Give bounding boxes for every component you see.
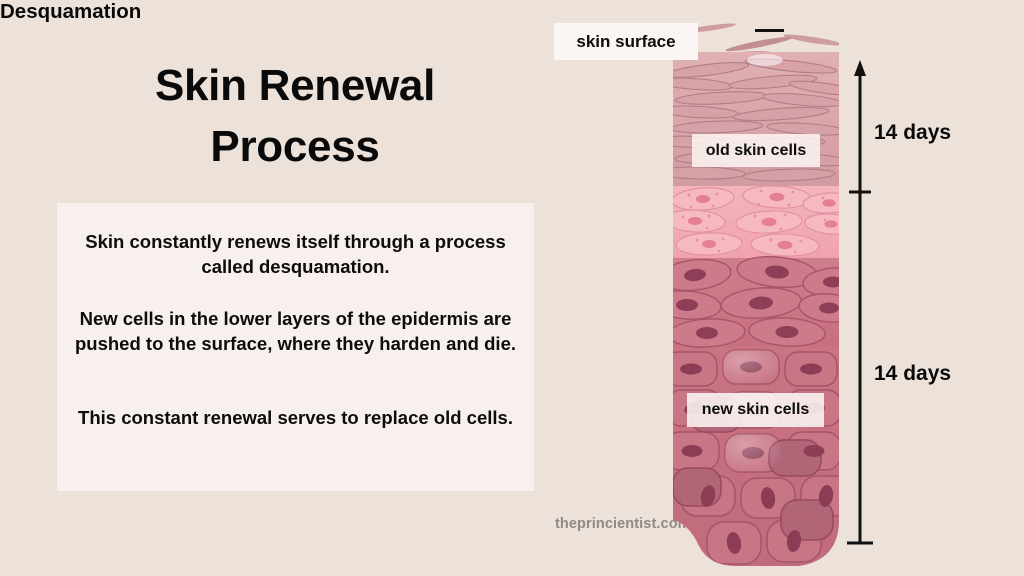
axis-line-group: [847, 66, 873, 543]
axis-arrowhead-icon: [854, 60, 866, 76]
timeline-axis: [0, 0, 1024, 576]
duration-label-upper: 14 days: [874, 121, 951, 145]
infographic-canvas: Skin Renewal Process Skin constantly ren…: [0, 0, 1024, 576]
duration-label-lower: 14 days: [874, 362, 951, 386]
